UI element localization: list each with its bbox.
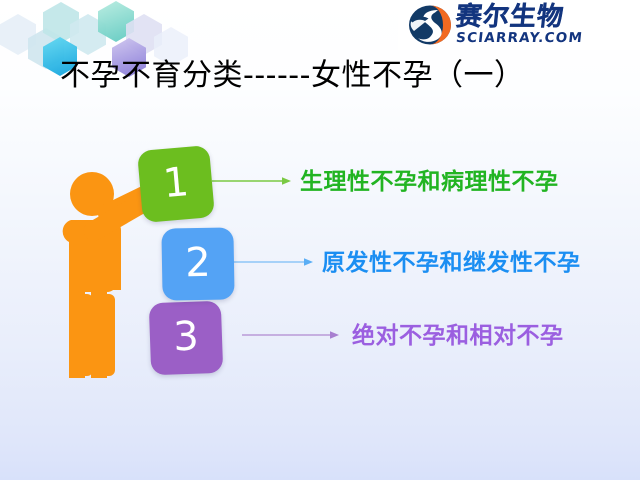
branch-label-2: 原发性不孕和继发性不孕 [322,243,581,277]
step-box-2[interactable]: 2 [161,227,234,300]
connector-arrow-2 [232,255,314,269]
step-box-1[interactable]: 1 [137,145,215,223]
branch-label-1: 生理性不孕和病理性不孕 [300,162,559,196]
branch-label-3: 绝对不孕和相对不孕 [352,316,564,350]
connector-arrow-1 [212,174,292,188]
logo-domain: SCIARRAY.COM [455,32,583,46]
connector-arrow-3 [242,328,340,342]
sciarray-swoosh-logo-icon [408,4,452,46]
presentation-slide: 赛尔生物 SCIARRAY.COM 不孕不育分类------女性不孕（一） 1 … [0,0,640,480]
company-logo: 赛尔生物 SCIARRAY.COM [398,0,640,50]
logo-chinese-name: 赛尔生物 [455,4,585,30]
classification-diagram: 1 2 3 生理性不孕和病理性不孕 原发性不孕和继发性不孕 绝对不孕和相对不孕 [0,130,640,400]
page-title: 不孕不育分类------女性不孕（一） [60,50,600,94]
step-box-3[interactable]: 3 [149,301,223,375]
